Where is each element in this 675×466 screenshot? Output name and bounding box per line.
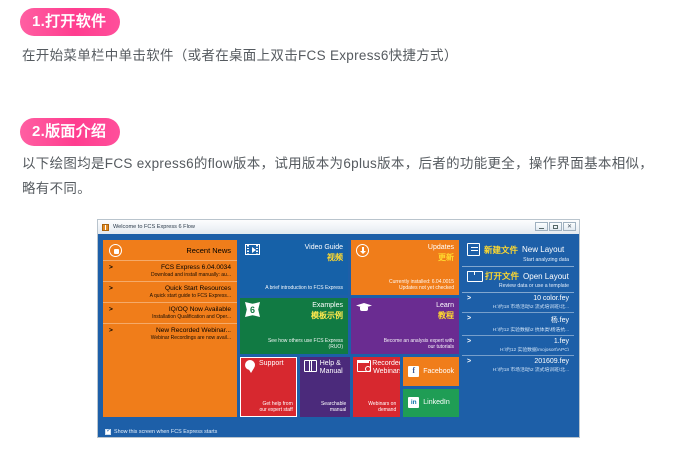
news-item[interactable]: > Quick Start Resources A quick start gu… (103, 281, 237, 302)
learn-subtitle-2: our tutorials (356, 344, 454, 351)
actions-column: 新建文件 New Layout Start analyzing data 打开文… (462, 240, 574, 417)
recent-news-title: Recent News (186, 246, 231, 255)
tile-learn[interactable]: Learn 教程 Become an analysis expert with … (351, 298, 459, 354)
tile-grid: Recent News > FCS Express 6.04.0034 Down… (103, 240, 574, 417)
recorded-webinars-label-block: Recorded Webinars (372, 360, 400, 376)
support-subtitle-2: our expert staff (244, 407, 293, 414)
support-label: Support (259, 360, 284, 368)
help-manual-label-2: Manual (320, 368, 343, 376)
news-item-title-wrap: > FCS Express 6.04.0034 (109, 264, 231, 271)
section-1-paragraph: 在开始菜单栏中单击软件（或者在桌面上双击FCS Express6快捷方式） (22, 44, 662, 69)
learn-header: Learn 教程 (351, 298, 459, 321)
open-layout-subtitle: Review data or use a template (467, 283, 569, 289)
fcs-six-logo-icon: 6 (245, 302, 260, 317)
chevron-right-icon: > (109, 264, 113, 271)
recent-file-item[interactable]: > 201609.fey H:\约18 市场活动\2 流式培训班\北... (462, 356, 574, 375)
learn-subtitle-1: Become an analysis expert with (356, 338, 454, 345)
facebook-icon: f (408, 366, 419, 377)
window-controls: ✕ (535, 222, 576, 231)
chevron-right-icon: > (467, 338, 471, 345)
recorded-webinars-subtitle-1: Webinars on (357, 401, 396, 408)
section-2-paragraph: 以下绘图均是FCS express6的flow版本，试用版本为6plus版本，后… (22, 152, 662, 202)
recent-file-title-wrap: > 10 color.fey (467, 295, 569, 302)
tile-recorded-webinars[interactable]: Recorded Webinars Webinars on demand (353, 357, 400, 417)
new-layout-label-en: New Layout (522, 245, 564, 254)
social-tiles: f Facebook in LinkedIn (403, 357, 459, 417)
linkedin-label: LinkedIn (423, 399, 449, 406)
updates-installed-version: Currently installed: 6.04.0015 (356, 279, 454, 286)
news-item-title-wrap: > Quick Start Resources (109, 285, 231, 292)
help-manual-subtitle-2: manual (304, 407, 347, 414)
maximize-button[interactable] (549, 222, 562, 231)
recent-file-item[interactable]: > 杨.fey H:\约12 实验数据\2 抗体类\杨浩抗... (462, 313, 574, 336)
support-subtitle-block: Get help from our expert staff (244, 401, 293, 415)
recent-file-item[interactable]: > 10 color.fey H:\约18 市场活动\2 流式培训班\北... (462, 293, 574, 313)
news-item-subtitle: Installation Qualification and Oper... (109, 314, 231, 320)
open-layout-row: 打开文件 Open Layout (467, 270, 569, 282)
webinar-window-icon (357, 360, 369, 370)
window-titlebar: Welcome to FCS Express 6 Flow ✕ (98, 220, 579, 234)
recorded-webinars-label-1: Recorded (372, 360, 400, 368)
recent-file-title-wrap: > 201609.fey (467, 358, 569, 365)
recent-file-path: H:\约12 实验数据\mojosort\APC\ (467, 346, 569, 353)
chevron-right-icon: > (109, 327, 113, 334)
tile-support[interactable]: Support Get help from our expert staff (240, 357, 297, 417)
news-item[interactable]: > IQ/OQ Now Available Installation Quali… (103, 302, 237, 323)
refresh-circle-icon (109, 244, 122, 257)
tile-updates[interactable]: Updates 更新 Currently installed: 6.04.001… (351, 240, 459, 295)
news-item-title: New Recorded Webinar... (156, 327, 231, 334)
new-layout-label-cn: 新建文件 (484, 244, 518, 256)
recent-file-title-wrap: > 1.fey (467, 338, 569, 345)
tile-facebook[interactable]: f Facebook (403, 357, 459, 386)
chevron-right-icon: > (467, 358, 471, 365)
recent-news-header: Recent News (103, 240, 237, 260)
video-guide-title-en: Video Guide (305, 244, 343, 252)
speech-bubble-icon (244, 360, 256, 373)
updates-header: Updates 更新 (351, 240, 459, 263)
close-button[interactable]: ✕ (563, 222, 576, 231)
facebook-glyph: f (412, 367, 415, 375)
news-item[interactable]: > FCS Express 6.04.0034 Download and ins… (103, 260, 237, 281)
examples-subtitle-block: See how others use FCS Express (RUO) (245, 338, 343, 352)
updates-subtitle-block: Currently installed: 6.04.0015 Updates n… (356, 279, 454, 293)
linkedin-icon: in (408, 397, 419, 408)
section-1-badge: 1.打开软件 (20, 8, 120, 36)
examples-header: 6 Examples 模板示例 (240, 298, 348, 321)
video-guide-header: Video Guide 视频 (240, 240, 348, 263)
chevron-right-icon: > (467, 315, 471, 322)
recent-file-name: 1.fey (554, 338, 569, 345)
open-layout-label-cn: 打开文件 (485, 270, 519, 282)
center-tiles-column: Video Guide 视频 A brief introduction to F… (240, 240, 459, 417)
show-on-start-checkbox[interactable] (105, 429, 111, 435)
examples-titles: Examples 模板示例 (311, 302, 343, 321)
recent-file-name: 10 color.fey (533, 295, 569, 302)
video-guide-titles: Video Guide 视频 (305, 244, 343, 263)
video-guide-subtitle: A brief introduction to FCS Express (245, 285, 343, 292)
action-new-layout[interactable]: 新建文件 New Layout Start analyzing data (462, 240, 574, 267)
recent-news-column: Recent News > FCS Express 6.04.0034 Down… (103, 240, 237, 417)
chevron-right-icon: > (467, 295, 471, 302)
examples-subtitle-1: See how others use FCS Express (245, 338, 343, 345)
welcome-screen-body: Recent News > FCS Express 6.04.0034 Down… (98, 234, 579, 438)
recent-file-path: H:\约12 实验数据\2 抗体类\杨浩抗... (467, 326, 569, 333)
recent-file-name: 201609.fey (534, 358, 569, 365)
action-open-layout[interactable]: 打开文件 Open Layout Review data or use a te… (462, 267, 574, 293)
show-on-start-row[interactable]: Show this screen when FCS Express starts (105, 429, 217, 435)
news-item-title: IQ/OQ Now Available (169, 306, 231, 313)
news-item-title: Quick Start Resources (165, 285, 231, 292)
graduation-cap-icon (356, 302, 372, 313)
updates-titles: Updates 更新 (428, 244, 454, 263)
recent-file-name: 杨.fey (551, 317, 569, 324)
tile-linkedin[interactable]: in LinkedIn (403, 389, 459, 418)
news-item-subtitle: A quick start guide to FCS Express... (109, 293, 231, 299)
tile-help-manual[interactable]: Help & Manual Searchable manual (300, 357, 351, 417)
help-manual-label-1: Help & (320, 360, 343, 368)
support-header: Support (244, 360, 293, 373)
news-item-title: FCS Express 6.04.0034 (161, 264, 231, 271)
examples-title-en: Examples (311, 302, 343, 310)
learn-subtitle-block: Become an analysis expert with our tutor… (356, 338, 454, 352)
examples-subtitle-2: (RUO) (245, 344, 343, 351)
recorded-webinars-header: Recorded Webinars (357, 360, 396, 376)
window-title: Welcome to FCS Express 6 Flow (113, 224, 195, 230)
news-item-title-wrap: > New Recorded Webinar... (109, 327, 231, 334)
new-layout-subtitle: Start analyzing data (467, 257, 569, 263)
recent-news-tile[interactable]: Recent News > FCS Express 6.04.0034 Down… (103, 240, 237, 417)
facebook-label: Facebook (423, 368, 454, 375)
recorded-webinars-subtitle-2: demand (357, 407, 396, 414)
chevron-right-icon: > (109, 285, 113, 292)
show-on-start-label: Show this screen when FCS Express starts (114, 429, 217, 435)
tile-row-3: Support Get help from our expert staff (240, 357, 459, 417)
help-manual-label-block: Help & Manual (320, 360, 343, 376)
app-icon (102, 224, 109, 231)
learn-title-en: Learn (436, 302, 454, 310)
download-circle-icon (356, 244, 369, 257)
book-icon (304, 360, 317, 370)
recent-file-path: H:\约18 市场活动\2 流式培训班\北... (467, 366, 569, 373)
examples-title-cn: 模板示例 (311, 311, 343, 321)
film-play-icon (245, 244, 260, 255)
recent-file-item[interactable]: > 1.fey H:\约12 实验数据\mojosort\APC\ (462, 336, 574, 356)
chevron-right-icon: > (109, 306, 113, 313)
recent-file-path: H:\约18 市场活动\2 流式培训班\北... (467, 303, 569, 310)
open-layout-label-en: Open Layout (523, 272, 569, 281)
tile-examples[interactable]: 6 Examples 模板示例 See how others use FCS E… (240, 298, 348, 354)
updates-check-status: Updates not yet checked (356, 285, 454, 292)
linkedin-glyph: in (411, 400, 417, 407)
help-manual-header: Help & Manual (304, 360, 347, 376)
news-item-subtitle: Download and install manually: au... (109, 272, 231, 278)
help-manual-subtitle-1: Searchable (304, 401, 347, 408)
recent-file-title-wrap: > 杨.fey (467, 315, 569, 325)
section-2-badge: 2.版面介绍 (20, 118, 120, 146)
news-item-title-wrap: > IQ/OQ Now Available (109, 306, 231, 313)
learn-title-cn: 教程 (436, 311, 454, 321)
new-layout-row: 新建文件 New Layout (467, 243, 569, 256)
recorded-webinars-label-2: Webinars (372, 368, 400, 376)
tile-video-guide[interactable]: Video Guide 视频 A brief introduction to F… (240, 240, 348, 295)
folder-open-icon (467, 271, 481, 282)
updates-title-en: Updates (428, 244, 454, 252)
embedded-app-screenshot: Welcome to FCS Express 6 Flow ✕ Recent N… (97, 219, 580, 438)
minimize-button[interactable] (535, 222, 548, 231)
tile-row-1: Video Guide 视频 A brief introduction to F… (240, 240, 459, 295)
new-document-icon (467, 243, 480, 256)
recorded-webinars-subtitle-block: Webinars on demand (357, 401, 396, 415)
video-guide-title-cn: 视频 (305, 253, 343, 263)
news-item-subtitle: Webinar Recordings are now avail... (109, 335, 231, 341)
page-root: 1.打开软件 在开始菜单栏中单击软件（或者在桌面上双击FCS Express6快… (0, 0, 675, 466)
support-subtitle-1: Get help from (244, 401, 293, 408)
updates-title-cn: 更新 (428, 253, 454, 263)
tile-row-2: 6 Examples 模板示例 See how others use FCS E… (240, 298, 459, 354)
learn-titles: Learn 教程 (436, 302, 454, 321)
news-item[interactable]: > New Recorded Webinar... Webinar Record… (103, 323, 237, 344)
help-manual-subtitle-block: Searchable manual (304, 401, 347, 415)
